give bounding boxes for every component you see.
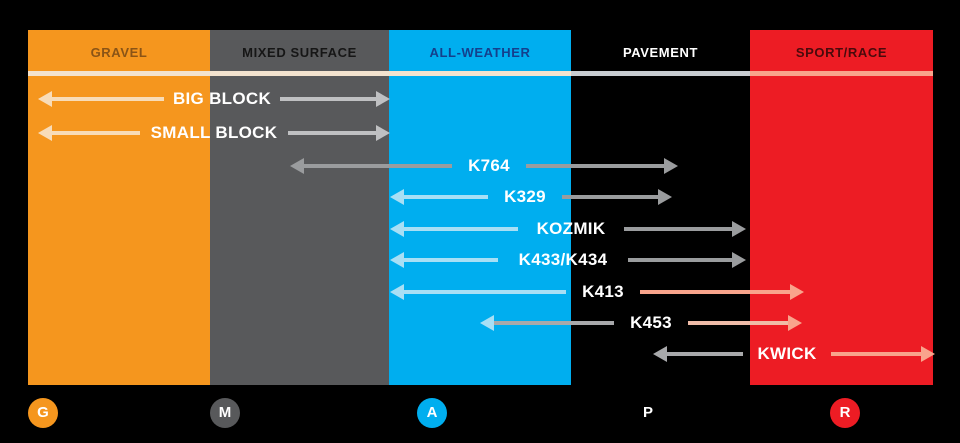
range-row-k329: K329 — [0, 184, 960, 210]
legend-badge-all-weather[interactable]: A — [417, 398, 447, 428]
arrow-head-left-icon — [390, 284, 404, 300]
arrow-head-left-icon — [38, 91, 52, 107]
range-label-k453: K453 — [614, 310, 688, 336]
arrow-line-left — [404, 258, 498, 262]
arrow-line-right — [628, 258, 732, 262]
arrow-head-left-icon — [480, 315, 494, 331]
surface-range-chart: GRAVEL MIXED SURFACE ALL-WEATHER PAVEMEN… — [0, 0, 960, 443]
arrow-line-right — [526, 164, 664, 168]
arrow-head-left-icon — [390, 189, 404, 205]
arrow-head-left-icon — [653, 346, 667, 362]
arrow-line-left — [667, 352, 743, 356]
arrow-head-right-icon — [376, 125, 390, 141]
range-row-kwick: KWICK — [0, 341, 960, 367]
range-row-k433-k434: K433/K434 — [0, 247, 960, 273]
arrow-line-left — [52, 131, 140, 135]
header-divider-left — [28, 71, 571, 76]
range-label-k433-k434: K433/K434 — [498, 247, 628, 273]
range-label-k764: K764 — [452, 153, 526, 179]
arrow-head-right-icon — [658, 189, 672, 205]
arrow-head-right-icon — [732, 221, 746, 237]
arrow-head-right-icon — [376, 91, 390, 107]
arrow-head-right-icon — [664, 158, 678, 174]
column-header-gravel: GRAVEL — [28, 43, 210, 63]
range-row-k453: K453 — [0, 310, 960, 336]
arrow-head-left-icon — [38, 125, 52, 141]
arrow-head-left-icon — [390, 221, 404, 237]
arrow-head-right-icon — [732, 252, 746, 268]
arrow-line-left — [404, 227, 518, 231]
arrow-head-right-icon — [790, 284, 804, 300]
legend-badge-pavement[interactable]: P — [633, 398, 663, 428]
column-header-mixed-surface: MIXED SURFACE — [210, 43, 389, 63]
arrow-line-right — [688, 321, 788, 325]
arrow-line-right — [280, 97, 376, 101]
column-header-sport-race: SPORT/RACE — [750, 43, 933, 63]
column-header-all-weather: ALL-WEATHER — [389, 43, 571, 63]
arrow-line-right — [562, 195, 658, 199]
legend-badge-mixed-surface[interactable]: M — [210, 398, 240, 428]
arrow-head-right-icon — [788, 315, 802, 331]
range-row-small-block: SMALL BLOCK — [0, 120, 960, 146]
arrow-line-left — [52, 97, 164, 101]
arrow-head-right-icon — [921, 346, 935, 362]
arrow-line-left — [494, 321, 614, 325]
range-row-kozmik: KOZMIK — [0, 216, 960, 242]
column-header-pavement: PAVEMENT — [571, 43, 750, 63]
range-label-k329: K329 — [488, 184, 562, 210]
arrow-head-left-icon — [290, 158, 304, 174]
header-divider-middle — [571, 71, 750, 76]
arrow-line-left — [304, 164, 452, 168]
range-row-big-block: BIG BLOCK — [0, 86, 960, 112]
range-label-big-block: BIG BLOCK — [164, 86, 280, 112]
range-label-small-block: SMALL BLOCK — [140, 120, 288, 146]
header-divider-right — [750, 71, 933, 76]
range-label-k413: K413 — [566, 279, 640, 305]
arrow-line-left — [404, 290, 566, 294]
range-label-kozmik: KOZMIK — [518, 216, 624, 242]
arrow-head-left-icon — [390, 252, 404, 268]
range-row-k413: K413 — [0, 279, 960, 305]
arrow-line-right — [288, 131, 376, 135]
range-row-k764: K764 — [0, 153, 960, 179]
arrow-line-right — [640, 290, 790, 294]
arrow-line-right — [624, 227, 732, 231]
range-label-kwick: KWICK — [743, 341, 831, 367]
legend-badge-gravel[interactable]: G — [28, 398, 58, 428]
legend-badge-sport-race[interactable]: R — [830, 398, 860, 428]
arrow-line-right — [831, 352, 921, 356]
arrow-line-left — [404, 195, 488, 199]
